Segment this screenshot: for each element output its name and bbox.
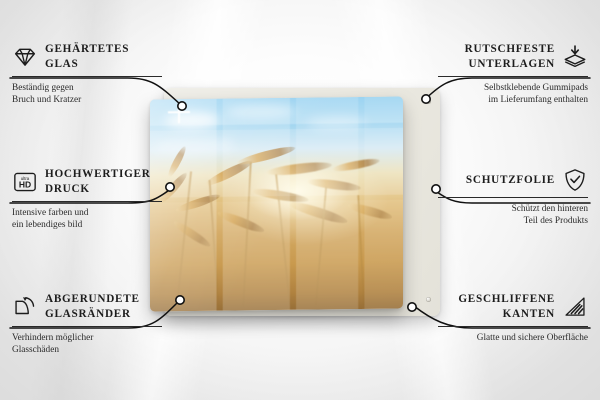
feature-sub-line2: Glasschäden <box>12 344 162 356</box>
feature-high-quality-print: ultra HD HOCHWERTIGER DRUCK Intensive fa… <box>12 167 162 232</box>
feature-sub-line1: Selbstklebende Gummipads <box>438 82 588 94</box>
feature-title-line1: RUTSCHFESTE <box>465 42 555 57</box>
feature-sub-line2: Teil des Produkts <box>438 215 588 227</box>
wheat-field-photo <box>150 96 403 311</box>
feature-title-line2: UNTERLAGEN <box>465 57 555 72</box>
feature-sub-line1: Schützt den hinteren <box>438 203 588 215</box>
feature-tempered-glass: GEHÄRTETES GLAS Beständig gegen Bruch un… <box>12 42 162 107</box>
shield-check-icon <box>562 167 588 193</box>
feature-divider <box>12 76 162 77</box>
feature-title-line1: SCHUTZFOLIE <box>466 173 555 188</box>
infographic-canvas: GEHÄRTETES GLAS Beständig gegen Bruch un… <box>0 0 600 400</box>
feature-polished-edges: GESCHLIFFENE KANTEN Glatte und sichere O… <box>438 292 588 344</box>
feature-sub-line1: Beständig gegen <box>12 82 162 94</box>
ultra-hd-badge-icon: ultra HD <box>12 169 38 195</box>
feature-divider <box>438 76 588 77</box>
glass-board-surface <box>150 96 403 311</box>
feature-sub-line1: Intensive farben und <box>12 207 162 219</box>
feature-sub-line1: Verhindern möglicher <box>12 332 162 344</box>
feature-divider <box>438 197 588 198</box>
feature-sub-line2: ein lebendiges bild <box>12 219 162 231</box>
feature-title-line2: GLAS <box>45 57 129 72</box>
mounting-screw-top-right <box>426 99 431 104</box>
feature-sub-line1: Glatte und sichere Oberfläche <box>438 332 588 344</box>
hatched-triangle-icon <box>562 294 588 320</box>
feature-title-line2: KANTEN <box>458 307 555 322</box>
diamond-icon <box>12 44 38 70</box>
feature-title-line1: ABGERUNDETE <box>45 292 140 307</box>
feature-protective-film: SCHUTZFOLIE Schützt den hinteren Teil de… <box>438 167 588 228</box>
press-pad-icon <box>562 44 588 70</box>
feature-divider <box>12 326 162 327</box>
feature-divider <box>12 201 162 202</box>
feature-title-line1: GEHÄRTETES <box>45 42 129 57</box>
feature-title-line1: GESCHLIFFENE <box>458 292 555 307</box>
feature-rounded-glass-edges: ABGERUNDETE GLASRÄNDER Verhindern möglic… <box>12 292 162 357</box>
feature-title-line1: HOCHWERTIGER <box>45 167 151 182</box>
badge-label-bottom: HD <box>19 180 31 190</box>
rounded-corner-icon <box>12 294 38 320</box>
feature-non-slip-pads: RUTSCHFESTE UNTERLAGEN Selbstklebende Gu… <box>438 42 588 107</box>
mounting-screw-bottom-right <box>426 297 431 302</box>
feature-title-line2: GLASRÄNDER <box>45 307 140 322</box>
feature-sub-line2: im Lieferumfang enthalten <box>438 94 588 106</box>
product-image <box>150 88 440 316</box>
feature-divider <box>438 326 588 327</box>
feature-title-line2: DRUCK <box>45 182 151 197</box>
feature-sub-line2: Bruch und Kratzer <box>12 94 162 106</box>
